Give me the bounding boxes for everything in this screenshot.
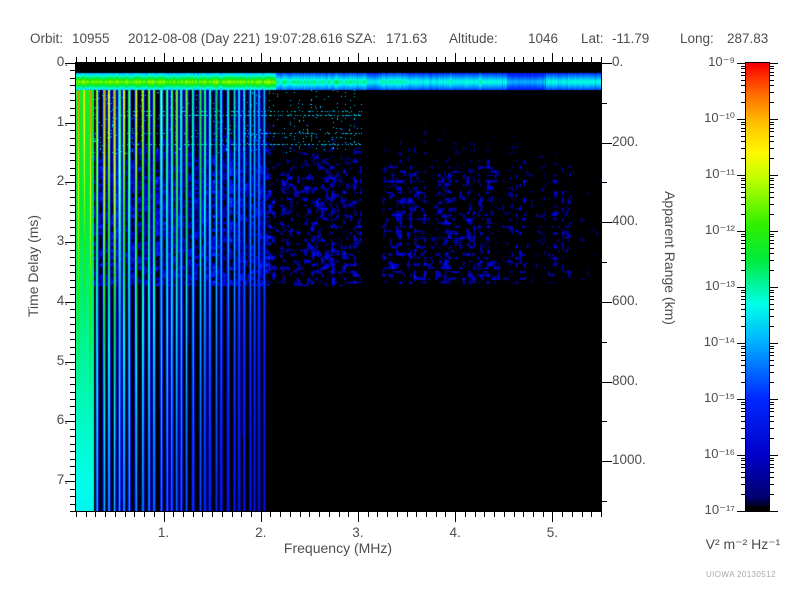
- cbar-major-tick-right: [769, 511, 778, 512]
- cbar-minor-tick-right: [769, 253, 774, 254]
- cbar-minor-tick-right: [769, 484, 774, 485]
- cbar-minor-tick-right: [769, 464, 774, 465]
- cbar-minor-tick-right: [769, 180, 774, 181]
- cbar-major-tick-left: [737, 343, 746, 344]
- cbar-major-tick-left: [737, 399, 746, 400]
- cbar-minor-tick-left: [741, 428, 746, 429]
- cbar-major-tick-right: [769, 231, 778, 232]
- cbar-minor-tick-left: [741, 178, 746, 179]
- cbar-minor-tick-right: [769, 346, 774, 347]
- cbar-minor-tick-left: [741, 234, 746, 235]
- cbar-minor-tick-right: [769, 68, 774, 69]
- colorbar-tick-label: 10⁻¹⁶: [675, 446, 735, 462]
- colorbar-tick-label: 10⁻¹⁰: [675, 110, 735, 126]
- colorbar-tick-label: 10⁻¹⁷: [675, 502, 735, 518]
- cbar-minor-tick-right: [769, 326, 774, 327]
- cbar-major-tick-right: [769, 287, 778, 288]
- cbar-minor-tick-left: [741, 348, 746, 349]
- cbar-minor-tick-left: [741, 184, 746, 185]
- cbar-minor-tick-right: [769, 240, 774, 241]
- cbar-minor-tick-left: [741, 382, 746, 383]
- cbar-minor-tick-left: [741, 141, 746, 142]
- cbar-minor-tick-right: [769, 296, 774, 297]
- cbar-minor-tick-left: [741, 204, 746, 205]
- cbar-minor-tick-left: [741, 411, 746, 412]
- cbar-minor-tick-left: [741, 75, 746, 76]
- cbar-minor-tick-left: [741, 484, 746, 485]
- cbar-minor-tick-right: [769, 372, 774, 373]
- cbar-minor-tick-right: [769, 236, 774, 237]
- cbar-minor-tick-left: [741, 68, 746, 69]
- cbar-minor-tick-right: [769, 131, 774, 132]
- cbar-minor-tick-right: [769, 75, 774, 76]
- cbar-minor-tick-right: [769, 402, 774, 403]
- cbar-minor-tick-left: [741, 128, 746, 129]
- cbar-minor-tick-right: [769, 136, 774, 137]
- cbar-minor-tick-left: [741, 458, 746, 459]
- cbar-minor-tick-right: [769, 382, 774, 383]
- cbar-major-tick-left: [737, 455, 746, 456]
- cbar-minor-tick-right: [769, 460, 774, 461]
- cbar-minor-tick-left: [741, 270, 746, 271]
- cbar-minor-tick-left: [741, 365, 746, 366]
- cbar-minor-tick-right: [769, 494, 774, 495]
- cbar-minor-tick-right: [769, 472, 774, 473]
- cbar-minor-tick-left: [741, 136, 746, 137]
- cbar-minor-tick-right: [769, 404, 774, 405]
- cbar-minor-tick-right: [769, 187, 774, 188]
- cbar-minor-tick-left: [741, 467, 746, 468]
- cbar-minor-tick-right: [769, 299, 774, 300]
- colorbar-tick-label: 10⁻¹²: [675, 222, 735, 238]
- cbar-major-tick-left: [737, 175, 746, 176]
- cbar-minor-tick-left: [741, 346, 746, 347]
- cbar-minor-tick-left: [741, 296, 746, 297]
- cbar-minor-tick-right: [769, 248, 774, 249]
- ionogram-figure: Orbit: 10955 2012-08-08 (Day 221) 19:07:…: [0, 0, 800, 600]
- colorbar-tick-label: 10⁻¹³: [675, 278, 735, 294]
- cbar-minor-tick-right: [769, 309, 774, 310]
- cbar-minor-tick-right: [769, 348, 774, 349]
- cbar-minor-tick-left: [741, 290, 746, 291]
- cbar-minor-tick-right: [769, 408, 774, 409]
- cbar-minor-tick-left: [741, 372, 746, 373]
- cbar-minor-tick-left: [741, 192, 746, 193]
- cbar-minor-tick-left: [741, 352, 746, 353]
- cbar-minor-tick-left: [741, 472, 746, 473]
- cbar-minor-tick-right: [769, 421, 774, 422]
- cbar-minor-tick-right: [769, 124, 774, 125]
- cbar-minor-tick-right: [769, 66, 774, 67]
- colorbar-units-label: V² m⁻² Hz⁻¹: [688, 536, 798, 553]
- cbar-major-tick-left: [737, 63, 746, 64]
- cbar-major-tick-left: [737, 231, 746, 232]
- cbar-major-tick-right: [769, 399, 778, 400]
- cbar-minor-tick-left: [741, 240, 746, 241]
- cbar-minor-tick-right: [769, 270, 774, 271]
- cbar-minor-tick-right: [769, 467, 774, 468]
- cbar-minor-tick-left: [741, 92, 746, 93]
- cbar-minor-tick-left: [741, 122, 746, 123]
- cbar-minor-tick-right: [769, 360, 774, 361]
- cbar-minor-tick-right: [769, 438, 774, 439]
- cbar-minor-tick-right: [769, 102, 774, 103]
- cbar-minor-tick-left: [741, 253, 746, 254]
- cbar-minor-tick-right: [769, 80, 774, 81]
- cbar-minor-tick-left: [741, 148, 746, 149]
- cbar-minor-tick-left: [741, 131, 746, 132]
- cbar-minor-tick-left: [741, 460, 746, 461]
- cbar-minor-tick-right: [769, 184, 774, 185]
- cbar-minor-tick-left: [741, 102, 746, 103]
- cbar-minor-tick-right: [769, 92, 774, 93]
- cbar-minor-tick-right: [769, 192, 774, 193]
- cbar-major-tick-right: [769, 63, 778, 64]
- cbar-minor-tick-right: [769, 411, 774, 412]
- cbar-minor-tick-right: [769, 304, 774, 305]
- cbar-minor-tick-left: [741, 355, 746, 356]
- cbar-minor-tick-right: [769, 416, 774, 417]
- watermark-label: UIOWA 20130512: [706, 570, 776, 579]
- cbar-minor-tick-left: [741, 316, 746, 317]
- colorbar-tick-label: 10⁻⁹: [675, 54, 735, 70]
- cbar-minor-tick-right: [769, 355, 774, 356]
- cbar-minor-tick-right: [769, 316, 774, 317]
- cbar-minor-tick-left: [741, 477, 746, 478]
- cbar-minor-tick-left: [741, 243, 746, 244]
- cbar-minor-tick-left: [741, 304, 746, 305]
- cbar-minor-tick-right: [769, 128, 774, 129]
- cbar-minor-tick-left: [741, 299, 746, 300]
- cbar-minor-tick-right: [769, 197, 774, 198]
- cbar-minor-tick-right: [769, 428, 774, 429]
- cbar-minor-tick-right: [769, 85, 774, 86]
- colorbar-tick-label: 10⁻¹¹: [675, 166, 735, 182]
- cbar-minor-tick-right: [769, 122, 774, 123]
- cbar-minor-tick-left: [741, 80, 746, 81]
- cbar-major-tick-right: [769, 343, 778, 344]
- cbar-minor-tick-right: [769, 458, 774, 459]
- cbar-minor-tick-left: [741, 158, 746, 159]
- cbar-minor-tick-right: [769, 352, 774, 353]
- cbar-minor-tick-right: [769, 292, 774, 293]
- cbar-minor-tick-left: [741, 494, 746, 495]
- cbar-major-tick-left: [737, 287, 746, 288]
- cbar-minor-tick-right: [769, 178, 774, 179]
- cbar-minor-tick-right: [769, 72, 774, 73]
- cbar-minor-tick-right: [769, 148, 774, 149]
- cbar-minor-tick-left: [741, 66, 746, 67]
- cbar-minor-tick-left: [741, 326, 746, 327]
- cbar-minor-tick-left: [741, 180, 746, 181]
- cbar-minor-tick-left: [741, 187, 746, 188]
- cbar-minor-tick-left: [741, 292, 746, 293]
- cbar-minor-tick-right: [769, 158, 774, 159]
- cbar-minor-tick-left: [741, 124, 746, 125]
- cbar-minor-tick-left: [741, 214, 746, 215]
- cbar-minor-tick-left: [741, 72, 746, 73]
- cbar-minor-tick-right: [769, 260, 774, 261]
- cbar-minor-tick-right: [769, 290, 774, 291]
- cbar-minor-tick-left: [741, 404, 746, 405]
- cbar-minor-tick-left: [741, 416, 746, 417]
- cbar-minor-tick-left: [741, 260, 746, 261]
- colorbar-tick-layer: 10⁻⁹10⁻¹⁰10⁻¹¹10⁻¹²10⁻¹³10⁻¹⁴10⁻¹⁵10⁻¹⁶1…: [0, 0, 800, 600]
- cbar-minor-tick-right: [769, 214, 774, 215]
- cbar-minor-tick-left: [741, 360, 746, 361]
- cbar-minor-tick-left: [741, 85, 746, 86]
- cbar-major-tick-right: [769, 175, 778, 176]
- colorbar-tick-label: 10⁻¹⁵: [675, 390, 735, 406]
- cbar-major-tick-left: [737, 119, 746, 120]
- cbar-minor-tick-left: [741, 408, 746, 409]
- cbar-minor-tick-right: [769, 477, 774, 478]
- cbar-minor-tick-right: [769, 243, 774, 244]
- cbar-major-tick-right: [769, 119, 778, 120]
- cbar-minor-tick-right: [769, 204, 774, 205]
- cbar-minor-tick-right: [769, 365, 774, 366]
- cbar-minor-tick-right: [769, 234, 774, 235]
- cbar-major-tick-left: [737, 511, 746, 512]
- cbar-minor-tick-left: [741, 421, 746, 422]
- cbar-minor-tick-left: [741, 464, 746, 465]
- cbar-minor-tick-left: [741, 309, 746, 310]
- cbar-minor-tick-left: [741, 438, 746, 439]
- cbar-minor-tick-left: [741, 236, 746, 237]
- cbar-major-tick-right: [769, 455, 778, 456]
- cbar-minor-tick-right: [769, 141, 774, 142]
- colorbar-tick-label: 10⁻¹⁴: [675, 334, 735, 350]
- cbar-minor-tick-left: [741, 197, 746, 198]
- cbar-minor-tick-left: [741, 402, 746, 403]
- cbar-minor-tick-left: [741, 248, 746, 249]
